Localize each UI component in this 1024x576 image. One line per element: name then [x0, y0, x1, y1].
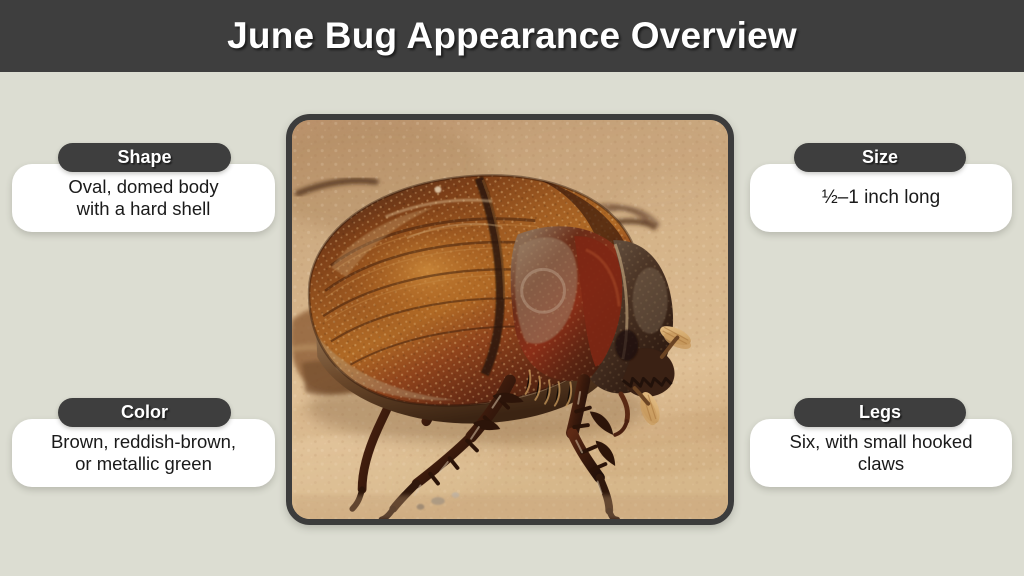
info-card-shape-text: Oval, domed body with a hard shell: [58, 176, 228, 220]
info-card-color-text: Brown, reddish-brown, or metallic green: [41, 431, 246, 475]
info-card-size-text: ½–1 inch long: [812, 187, 950, 209]
beetle-photo: [292, 120, 728, 519]
info-card-legs-text: Six, with small hooked claws: [779, 431, 982, 475]
card-label-size: Size: [794, 143, 966, 172]
info-card-color: Brown, reddish-brown, or metallic green: [12, 419, 275, 487]
beetle-photo-frame: [286, 114, 734, 525]
card-label-legs: Legs: [794, 398, 966, 427]
page-title: June Bug Appearance Overview: [227, 15, 797, 57]
card-label-shape: Shape: [58, 143, 231, 172]
info-card-legs: Six, with small hooked claws: [750, 419, 1012, 487]
pill-label-text: Size: [862, 147, 898, 168]
pill-label-text: Legs: [859, 402, 901, 423]
beetle-photo-illustration: [292, 120, 728, 519]
pill-label-text: Shape: [117, 147, 171, 168]
card-label-color: Color: [58, 398, 231, 427]
info-card-shape: Oval, domed body with a hard shell: [12, 164, 275, 232]
pill-label-text: Color: [121, 402, 168, 423]
info-card-size: ½–1 inch long: [750, 164, 1012, 232]
header-bar: June Bug Appearance Overview: [0, 0, 1024, 72]
infographic-page: June Bug Appearance Overview: [0, 0, 1024, 576]
